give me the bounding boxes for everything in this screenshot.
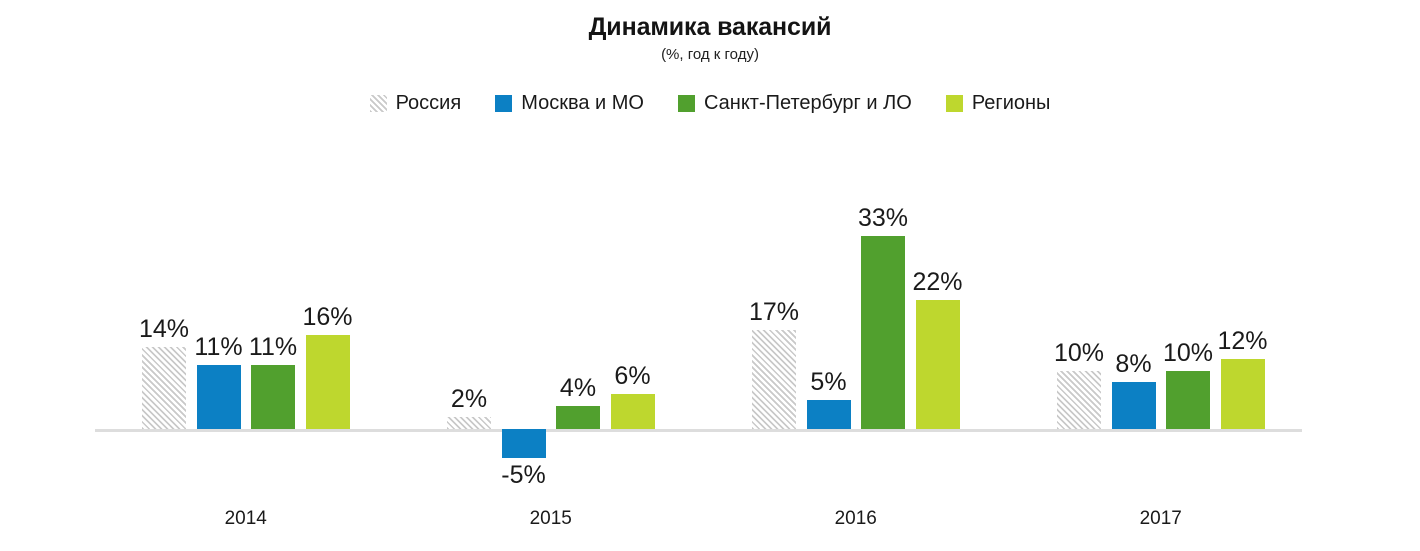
x-axis-tick-2016: 2016 [766, 508, 946, 530]
x-axis-tick-2017: 2017 [1071, 508, 1251, 530]
bar-moscow-2016[interactable] [807, 400, 851, 429]
bar-spb-2015[interactable] [556, 406, 600, 429]
bar-moscow-2017[interactable] [1112, 382, 1156, 429]
chart-container: Динамика вакансий (%, год к году) Россия… [0, 0, 1420, 551]
bar-moscow-2014[interactable] [197, 365, 241, 429]
bar-value-label-russia-2016: 17% [728, 299, 820, 326]
plot-area: 14%11%11%16%2%-5%4%6%17%5%33%22%10%8%10%… [0, 0, 1420, 551]
bar-value-label-moscow-2016: 5% [783, 369, 875, 396]
bar-spb-2016[interactable] [861, 236, 905, 429]
bar-value-label-regions-2016: 22% [892, 269, 984, 296]
bar-value-label-regions-2015: 6% [587, 363, 679, 390]
bar-moscow-2015[interactable] [502, 429, 546, 458]
bar-spb-2017[interactable] [1166, 371, 1210, 430]
bar-value-label-regions-2017: 12% [1197, 328, 1289, 355]
bar-regions-2017[interactable] [1221, 359, 1265, 429]
bar-russia-2015[interactable] [447, 417, 491, 429]
bar-spb-2014[interactable] [251, 365, 295, 429]
zero-baseline [95, 429, 1302, 432]
bar-value-label-spb-2014: 11% [227, 334, 319, 361]
bar-value-label-moscow-2015: -5% [478, 462, 570, 489]
bar-regions-2016[interactable] [916, 300, 960, 429]
x-axis-tick-2015: 2015 [461, 508, 641, 530]
bar-russia-2017[interactable] [1057, 371, 1101, 430]
bar-value-label-spb-2016: 33% [837, 205, 929, 232]
x-axis-tick-2014: 2014 [156, 508, 336, 530]
bar-value-label-regions-2014: 16% [282, 304, 374, 331]
bar-value-label-russia-2015: 2% [423, 386, 515, 413]
